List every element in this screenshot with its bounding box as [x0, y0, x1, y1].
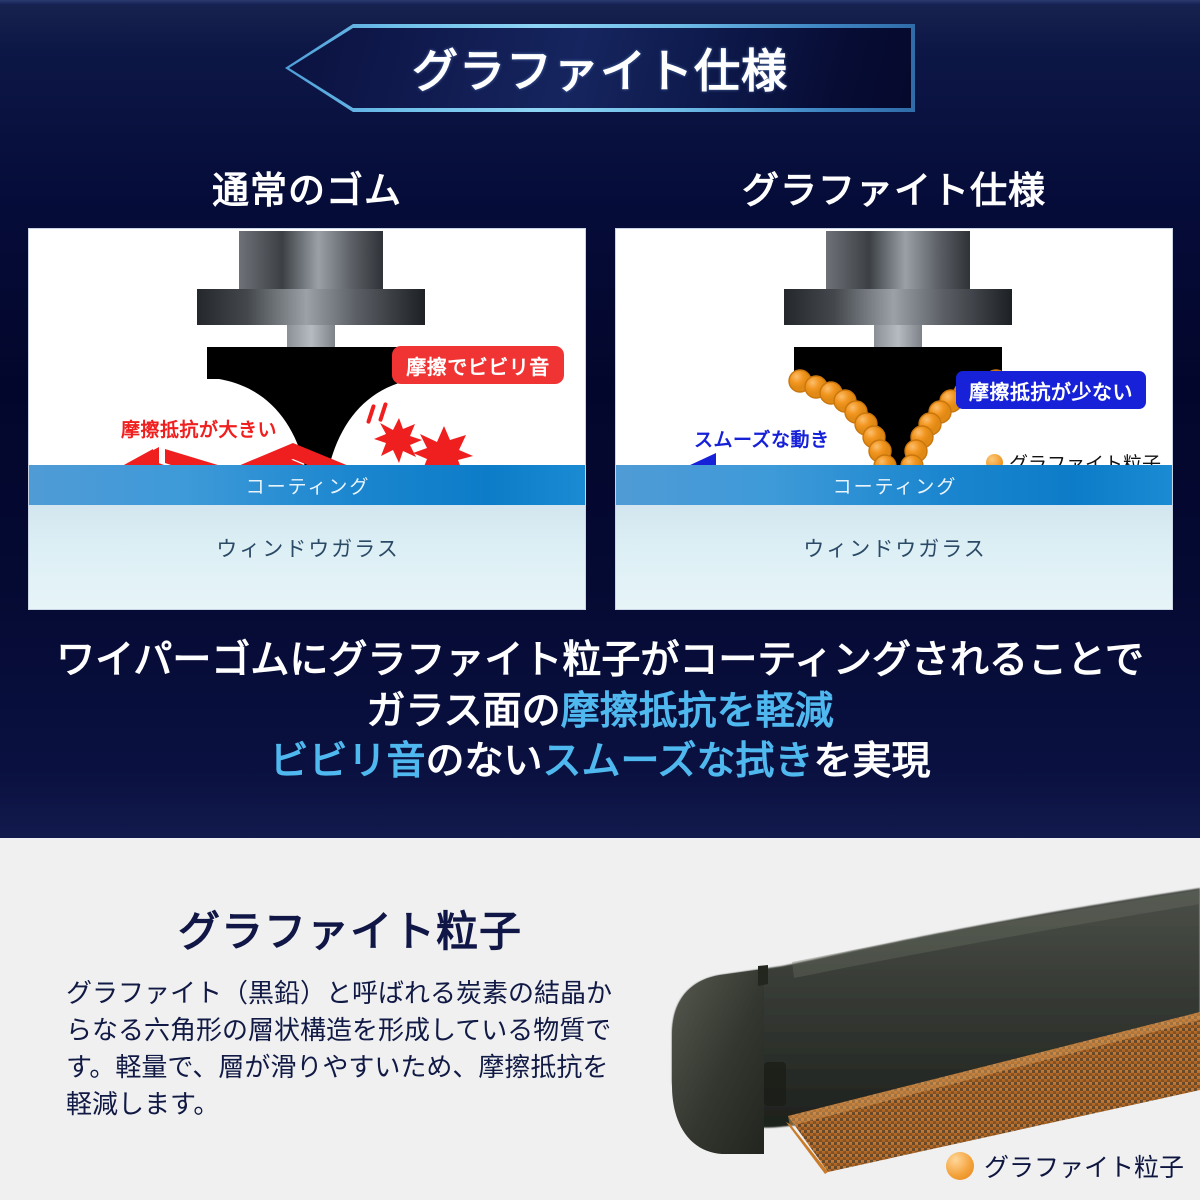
graphite-legend-icon — [946, 1152, 974, 1180]
banner-chevron: グラファイト仕様 — [285, 24, 915, 112]
diagram-panel-normal-rubber: 摩擦でビビリ音 摩擦抵抗が大きい コーティング ウィンドウガラス — [28, 228, 586, 610]
glass-layer-left: ウィンドウガラス — [29, 505, 586, 609]
graphite-legend-label: グラファイト粒子 — [984, 1148, 1184, 1184]
glass-label-left: ウィンドウガラス — [216, 533, 400, 563]
diagram-panel-graphite: 摩擦抵抗が少ない スムーズな動き グラファイト粒子 コーティング ウィンドウガラ… — [615, 228, 1173, 610]
summary-line-2-plain: ガラス面の — [366, 690, 560, 733]
coating-label-right: コーティング — [833, 472, 958, 499]
glass-label-right: ウィンドウガラス — [803, 533, 987, 563]
summary-line-2: ガラス面の摩擦抵抗を軽減 — [0, 687, 1200, 738]
product-feature-page: グラファイト仕様 通常のゴム グラファイト仕様 — [0, 0, 1200, 1200]
summary-line-3-plain-1: のない — [425, 740, 542, 783]
column-heading-normal-rubber: 通常のゴム — [28, 160, 586, 214]
summary-line-3-plain-2: を実現 — [814, 740, 931, 783]
summary-line-3-highlight-2: スムーズな拭き — [542, 740, 813, 783]
pill-friction-noise: 摩擦でビビリ音 — [392, 346, 564, 384]
summary-line-3: ビビリ音のないスムーズな拭きを実現 — [0, 737, 1200, 788]
graphite-section-title: グラファイト粒子 — [60, 898, 640, 959]
label-high-friction: 摩擦抵抗が大きい — [121, 415, 277, 442]
top-dark-section: グラファイト仕様 通常のゴム グラファイト仕様 — [0, 0, 1200, 838]
coating-label-left: コーティング — [246, 472, 371, 499]
summary-line-1: ワイパーゴムにグラファイト粒子がコーティングされることで — [0, 636, 1200, 687]
bottom-light-section: グラファイト粒子 グラファイト（黒鉛）と呼ばれる炭素の結晶からなる六角形の層状構… — [0, 838, 1200, 1200]
coating-layer-right: コーティング — [616, 465, 1173, 505]
column-heading-graphite-spec: グラファイト仕様 — [615, 160, 1173, 214]
label-smooth-motion: スムーズな動き — [694, 425, 830, 452]
summary-line-2-highlight: 摩擦抵抗を軽減 — [561, 690, 834, 733]
banner-title: グラファイト仕様 — [412, 35, 788, 101]
coating-layer-left: コーティング — [29, 465, 586, 505]
pill-low-friction: 摩擦抵抗が少ない — [956, 371, 1146, 409]
graphite-section-body: グラファイト（黒鉛）と呼ばれる炭素の結晶からなる六角形の層状構造を形成している物… — [60, 975, 640, 1123]
banner-inner-fill: グラファイト仕様 — [289, 28, 911, 108]
graphite-description-block: グラファイト粒子 グラファイト（黒鉛）と呼ばれる炭素の結晶からなる六角形の層状構… — [60, 898, 640, 1123]
summary-line-3-highlight-1: ビビリ音 — [269, 740, 425, 783]
graphite-legend: グラファイト粒子 — [946, 1148, 1184, 1184]
summary-block: ワイパーゴムにグラファイト粒子がコーティングされることで ガラス面の摩擦抵抗を軽… — [0, 636, 1200, 788]
glass-layer-right: ウィンドウガラス — [616, 505, 1173, 609]
